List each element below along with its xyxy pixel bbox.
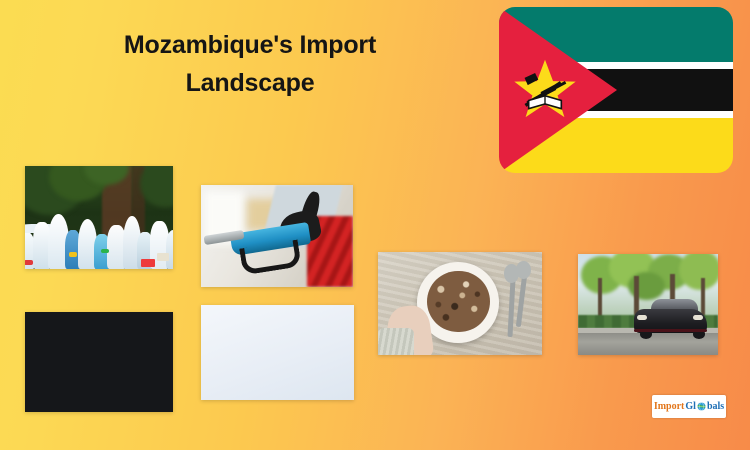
logo-text: Import Gl bals <box>654 401 724 412</box>
photo-pharmaceutical-pills <box>201 305 354 400</box>
page-title-line-1: Mozambique's Import <box>40 26 460 64</box>
mozambique-flag <box>499 7 733 173</box>
photo-cereal-bowl <box>378 252 542 355</box>
import-globals-logo[interactable]: Import Gl bals <box>652 395 726 418</box>
flag-emblem-icon <box>511 57 579 125</box>
page-title: Mozambique's Import Landscape <box>40 26 460 102</box>
logo-gl-word: Gl <box>685 401 696 412</box>
logo-import-word: Import <box>654 401 685 412</box>
photo-dark-pellets <box>25 312 173 412</box>
photo-fuel-pump <box>201 185 353 287</box>
logo-bals-word: bals <box>707 401 724 412</box>
globe-icon <box>697 402 706 411</box>
page-title-line-2: Landscape <box>40 64 460 102</box>
slide-canvas: Mozambique's Import Landscape <box>0 0 750 450</box>
photo-dark-car <box>578 254 718 355</box>
photo-plastic-bottles <box>25 166 173 269</box>
